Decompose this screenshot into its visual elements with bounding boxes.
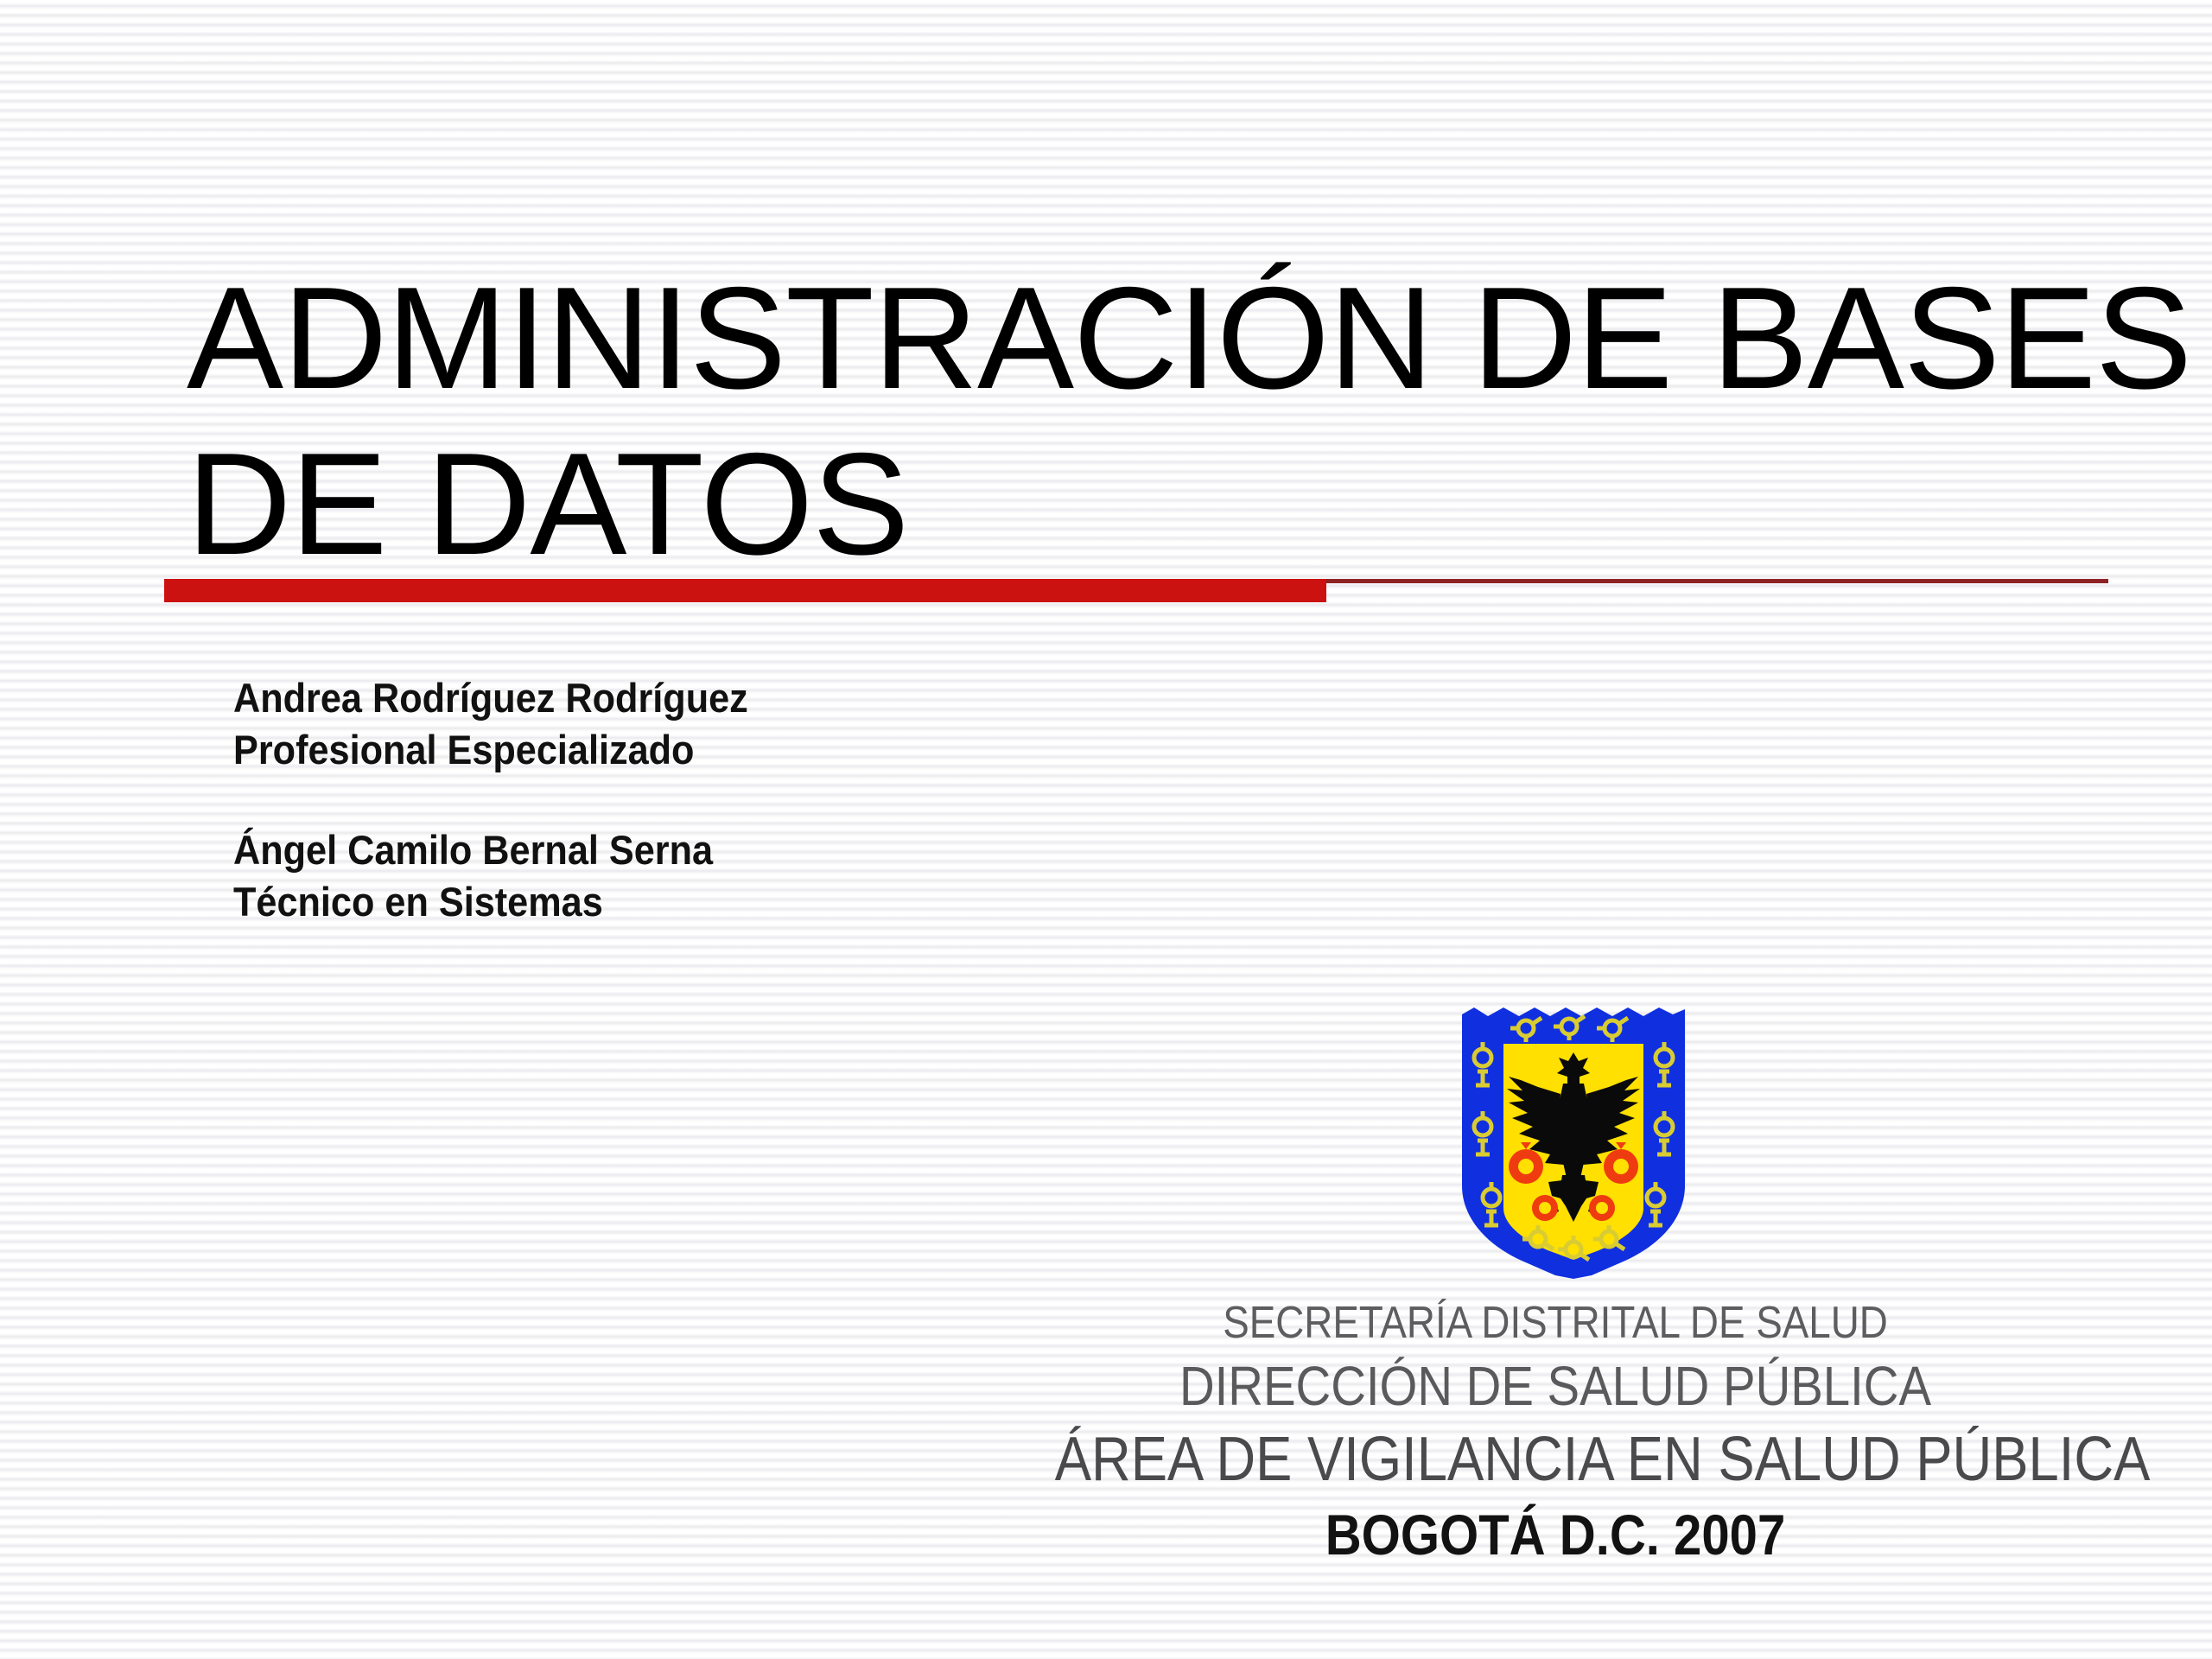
footer-area-line: ÁREA DE VIGILANCIA EN SALUD PÚBLICA xyxy=(1009,1421,2196,1498)
author-role: Técnico en Sistemas xyxy=(233,876,1187,928)
presentation-slide: ADMINISTRACIÓN DE BASES DE DATOS Andrea … xyxy=(0,0,2212,1659)
author-entry: Ángel Camilo Bernal Serna Técnico en Sis… xyxy=(233,824,1270,928)
bogota-coat-of-arms-icon xyxy=(1459,1004,1688,1279)
author-entry: Andrea Rodríguez Rodríguez Profesional E… xyxy=(233,672,1270,776)
footer-secretaria-line: SECRETARÍA DISTRITAL DE SALUD xyxy=(963,1294,2149,1351)
organization-footer: SECRETARÍA DISTRITAL DE SALUD DIRECCIÓN … xyxy=(881,1294,2212,1571)
author-name: Andrea Rodríguez Rodríguez xyxy=(233,672,1187,724)
footer-direccion-line: DIRECCIÓN DE SALUD PÚBLICA xyxy=(963,1351,2149,1421)
author-credits: Andrea Rodríguez Rodríguez Profesional E… xyxy=(233,672,1270,928)
author-role: Profesional Especializado xyxy=(233,724,1187,776)
footer-city-year-line: BOGOTÁ D.C. 2007 xyxy=(963,1498,2149,1571)
title-divider xyxy=(164,575,2108,602)
divider-thick-bar xyxy=(164,579,1326,602)
page-title: ADMINISTRACIÓN DE BASES DE DATOS xyxy=(187,255,2088,587)
title-line-1: ADMINISTRACIÓN DE BASES xyxy=(187,255,2088,421)
divider-thin-rule xyxy=(1326,579,2108,583)
title-line-2: DE DATOS xyxy=(187,421,2088,587)
author-name: Ángel Camilo Bernal Serna xyxy=(233,824,1187,876)
